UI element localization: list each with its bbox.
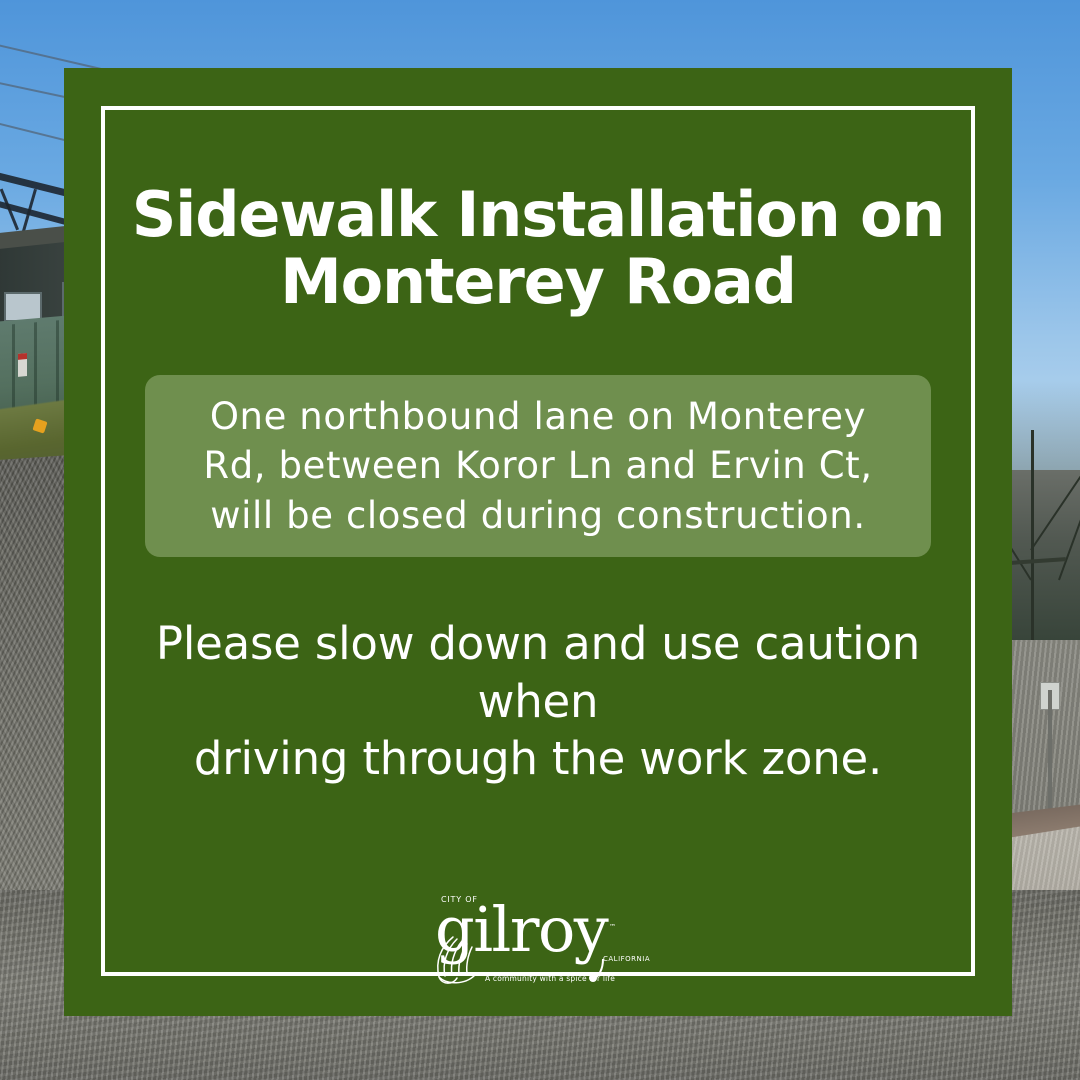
caution-message: Please slow down and use caution when dr… — [115, 615, 961, 788]
callout-text: One northbound lane on Monterey Rd, betw… — [173, 392, 903, 540]
headline-line-2: Monterey Road — [280, 245, 796, 318]
fence-sign — [18, 353, 27, 377]
page-title: Sidewalk Installation on Monterey Road — [115, 182, 961, 316]
logo-state: CALIFORNIA — [603, 955, 650, 963]
caution-line-1: Please slow down and use caution when — [156, 617, 920, 728]
lane-closure-callout: One northbound lane on Monterey Rd, betw… — [145, 375, 931, 557]
gilroy-logo-svg: CITY OF gilroy ™ CALIF — [423, 885, 653, 990]
city-of-gilroy-logo: CITY OF gilroy ™ CALIF — [423, 885, 653, 990]
logo-trademark: ™ — [609, 923, 616, 931]
headline-line-1: Sidewalk Installation on — [132, 178, 945, 251]
notice-panel: Sidewalk Installation on Monterey Road O… — [64, 68, 1012, 1016]
sign-post — [1048, 690, 1052, 820]
caution-line-2: driving through the work zone. — [194, 732, 882, 785]
notice-graphic: Sidewalk Installation on Monterey Road O… — [0, 0, 1080, 1080]
panel-content: Sidewalk Installation on Monterey Road O… — [101, 106, 975, 976]
